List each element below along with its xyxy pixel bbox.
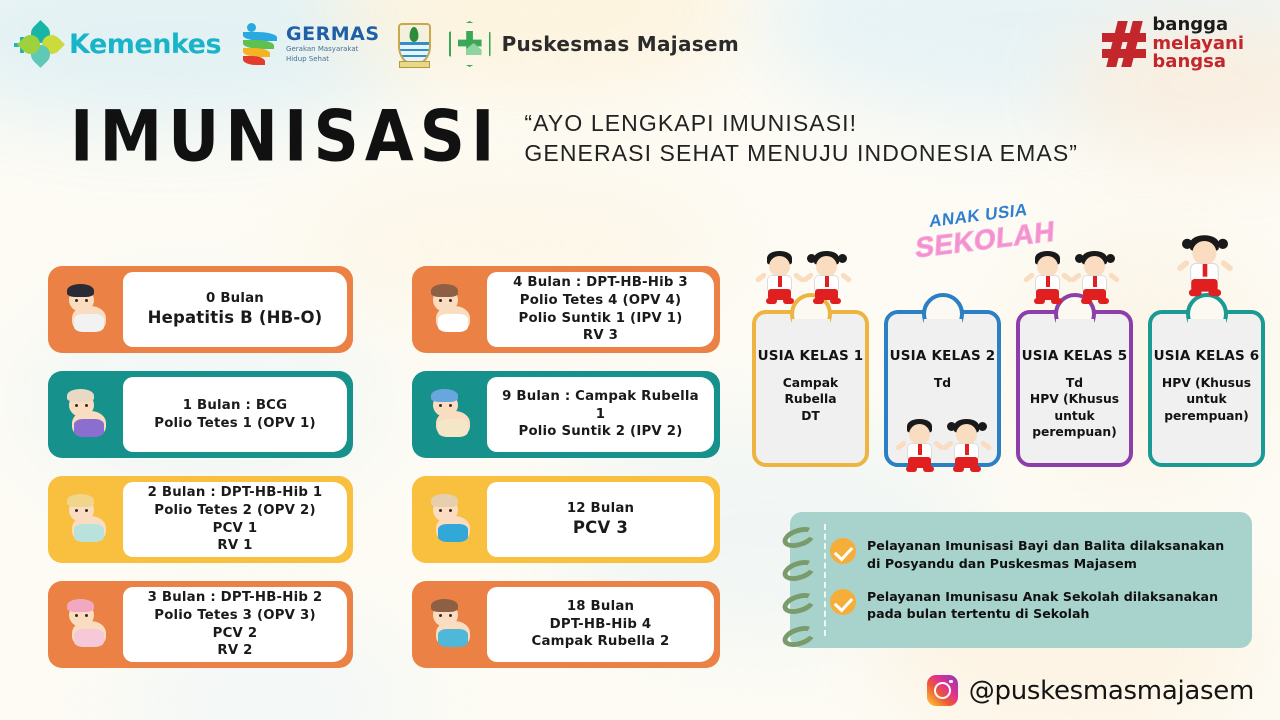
tagline: “AYO LENGKAPI IMUNISASI! GENERASI SEHAT …: [524, 108, 1078, 169]
schedule-line: 0 Bulan: [148, 290, 323, 308]
schedule-card: 2 Bulan : DPT-HB-Hib 1Polio Tetes 2 (OPV…: [48, 476, 353, 563]
schedule-card: 12 BulanPCV 3: [412, 476, 720, 563]
crawling-baby-icon: [59, 387, 115, 443]
notes-panel: Pelayanan Imunisasi Bayi dan Balita dila…: [790, 512, 1252, 648]
school-card-line: Campak: [783, 375, 838, 391]
card-notch: [790, 293, 832, 335]
school-card-line: HPV (Khusus: [1162, 375, 1251, 391]
schedule-line: 3 Bulan : DPT-HB-Hib 2: [148, 589, 323, 607]
puskesmas-name: Puskesmas Majasem: [502, 32, 739, 56]
page-title: IMUNISASI: [70, 101, 500, 172]
bangga-melayani-bangsa-logo: bangga melayani bangsa: [1102, 16, 1260, 72]
schedule-card-body: 0 BulanHepatitis B (HB-O): [123, 272, 347, 347]
school-card-body: Td: [934, 375, 951, 391]
baby-with-cap-icon: [423, 387, 479, 443]
card-notch: [1186, 293, 1228, 335]
schedule-line: Polio Tetes 3 (OPV 3): [148, 607, 323, 625]
schedule-card-illustration: [420, 589, 482, 660]
school-card-body: HPV (Khususuntukperempuan): [1162, 375, 1251, 424]
toddler-running-icon: [423, 597, 479, 653]
schedule-line: Polio Suntik 2 (IPV 2): [495, 423, 706, 441]
school-card-title: USIA KELAS 2: [890, 348, 996, 364]
school-card: USIA KELAS 1CampakRubellaDT: [752, 310, 869, 467]
schedule-line: Hepatitis B (HB-O): [148, 307, 323, 329]
schedule-card-body: 4 Bulan : DPT-HB-Hib 3Polio Tetes 4 (OPV…: [487, 272, 714, 347]
school-card: USIA KELAS 5TdHPV (Khususuntukperempuan): [1016, 310, 1133, 467]
germas-icon: [239, 22, 281, 66]
schedule-card-illustration: [56, 484, 118, 555]
schedule-card-illustration: [56, 589, 118, 660]
schedule-line: Polio Suntik 1 (IPV 1): [513, 310, 688, 328]
card-notch: [1054, 293, 1096, 335]
schedule-card-body: 18 BulanDPT-HB-Hib 4Campak Rubella 2: [487, 587, 714, 662]
school-card-line: Td: [934, 375, 951, 391]
schedule-line: Polio Tetes 4 (OPV 4): [513, 292, 688, 310]
schedule-line: RV 3: [513, 327, 688, 345]
bangga-line-1: bangga: [1152, 16, 1244, 35]
schedule-line: 2 Bulan : DPT-HB-Hib 1: [148, 484, 323, 502]
bandung-city-emblem-icon: [398, 23, 431, 65]
hashtag-icon: [1102, 21, 1146, 67]
note-margin-line: [824, 524, 826, 636]
schedule-line: Campak Rubella 2: [532, 633, 670, 651]
standing-baby-icon: [423, 492, 479, 548]
schedule-line: 12 Bulan: [567, 500, 634, 518]
health-cross-hexagon-icon: [449, 21, 491, 67]
schedule-line: 1 Bulan : BCG: [154, 397, 315, 415]
schedule-card-body: 3 Bulan : DPT-HB-Hib 2Polio Tetes 3 (OPV…: [123, 587, 347, 662]
instagram-icon[interactable]: [927, 675, 958, 706]
schedule-line: Polio Tetes 1 (OPV 1): [154, 415, 315, 433]
check-icon: [830, 589, 856, 615]
baby-on-cloud-icon: [59, 492, 115, 548]
schedule-card-text: 3 Bulan : DPT-HB-Hib 2Polio Tetes 3 (OPV…: [140, 589, 331, 660]
spiral-binding-icon: [782, 528, 816, 646]
schedule-card-text: 18 BulanDPT-HB-Hib 4Campak Rubella 2: [524, 598, 678, 651]
germas-subtitle-2: Hidup Sehat: [286, 55, 380, 64]
schedule-column-left: 0 BulanHepatitis B (HB-O)1 Bulan : BCGPo…: [48, 266, 353, 686]
school-card-line: DT: [783, 408, 838, 424]
school-card-line: Rubella: [783, 391, 838, 407]
schedule-card: 1 Bulan : BCGPolio Tetes 1 (OPV 1): [48, 371, 353, 458]
schedule-line: PCV 3: [567, 517, 634, 539]
check-icon: [830, 538, 856, 564]
kemenkes-icon: [20, 23, 62, 65]
school-card-line: Td: [1030, 375, 1119, 391]
tagline-line-1: “AYO LENGKAPI IMUNISASI!: [524, 108, 1078, 138]
schedule-card-illustration: [420, 484, 482, 555]
note-text: Pelayanan Imunisasu Anak Sekolah dilaksa…: [867, 588, 1238, 624]
school-cards-row: USIA KELAS 1CampakRubellaDTUSIA KELAS 2T…: [752, 310, 1265, 467]
school-card-title: USIA KELAS 1: [758, 348, 864, 364]
schedule-column-middle: 4 Bulan : DPT-HB-Hib 3Polio Tetes 4 (OPV…: [412, 266, 720, 686]
schedule-line: RV 2: [148, 642, 323, 660]
school-card-title: USIA KELAS 6: [1154, 348, 1260, 364]
schedule-card: 18 BulanDPT-HB-Hib 4Campak Rubella 2: [412, 581, 720, 668]
school-card-line: untuk: [1162, 391, 1251, 407]
schedule-card-text: 1 Bulan : BCGPolio Tetes 1 (OPV 1): [146, 397, 323, 432]
schedule-card: 0 BulanHepatitis B (HB-O): [48, 266, 353, 353]
school-card-body: TdHPV (Khususuntukperempuan): [1030, 375, 1119, 441]
school-age-heading: ANAK USIA SEKOLAH: [915, 206, 1090, 262]
schedule-line: 18 Bulan: [532, 598, 670, 616]
school-card-line: untuk: [1030, 408, 1119, 424]
schedule-card: 3 Bulan : DPT-HB-Hib 2Polio Tetes 3 (OPV…: [48, 581, 353, 668]
school-card-line: HPV (Khusus: [1030, 391, 1119, 407]
logo-group: Kemenkes GERMAS Gerakan Masyarakat Hidup…: [20, 21, 739, 67]
card-notch: [922, 293, 964, 335]
schedule-line: 4 Bulan : DPT-HB-Hib 3: [513, 274, 688, 292]
note-item: Pelayanan Imunisasu Anak Sekolah dilaksa…: [830, 588, 1238, 624]
bangga-line-3: bangsa: [1152, 53, 1244, 72]
schedule-card-illustration: [420, 274, 482, 345]
school-card-body: CampakRubellaDT: [783, 375, 838, 424]
newborn-baby-icon: [59, 282, 115, 338]
germas-name: GERMAS: [286, 25, 380, 44]
schedule-card-body: 1 Bulan : BCGPolio Tetes 1 (OPV 1): [123, 377, 347, 452]
note-text: Pelayanan Imunisasi Bayi dan Balita dila…: [867, 537, 1238, 573]
instagram-handle[interactable]: @puskesmasmajasem: [969, 676, 1254, 706]
schedule-card: 4 Bulan : DPT-HB-Hib 3Polio Tetes 4 (OPV…: [412, 266, 720, 353]
school-card-title: USIA KELAS 5: [1022, 348, 1128, 364]
schedule-line: 9 Bulan : Campak Rubella 1: [495, 388, 706, 423]
schedule-card-text: 0 BulanHepatitis B (HB-O): [140, 290, 331, 330]
schedule-card: 9 Bulan : Campak Rubella 1Polio Suntik 2…: [412, 371, 720, 458]
schedule-card-illustration: [56, 274, 118, 345]
schedule-line: RV 1: [148, 537, 323, 555]
title-block: IMUNISASI “AYO LENGKAPI IMUNISASI! GENER…: [70, 104, 1078, 169]
puskesmas-logo: Puskesmas Majasem: [449, 21, 739, 67]
schedule-card-text: 12 BulanPCV 3: [559, 500, 642, 540]
emblem-ribbon: [399, 61, 430, 68]
schedule-card-illustration: [56, 379, 118, 450]
schedule-card-text: 2 Bulan : DPT-HB-Hib 1Polio Tetes 2 (OPV…: [140, 484, 331, 555]
germas-logo: GERMAS Gerakan Masyarakat Hidup Sehat: [239, 22, 380, 66]
baby-girl-bow-icon: [59, 597, 115, 653]
header-bar: Kemenkes GERMAS Gerakan Masyarakat Hidup…: [0, 0, 1280, 88]
schedule-line: PCV 1: [148, 520, 323, 538]
schedule-card-text: 9 Bulan : Campak Rubella 1Polio Suntik 2…: [487, 388, 714, 441]
waving-baby-icon: [423, 282, 479, 338]
footer-social[interactable]: @puskesmasmajasem: [927, 675, 1254, 706]
kemenkes-logo: Kemenkes: [20, 23, 221, 65]
kemenkes-wordmark: Kemenkes: [69, 29, 221, 60]
schedule-line: Polio Tetes 2 (OPV 2): [148, 502, 323, 520]
tagline-line-2: GENERASI SEHAT MENUJU INDONESIA EMAS”: [524, 138, 1078, 168]
school-card: USIA KELAS 6HPV (Khususuntukperempuan): [1148, 310, 1265, 467]
note-item: Pelayanan Imunisasi Bayi dan Balita dila…: [830, 537, 1238, 573]
schedule-card-body: 2 Bulan : DPT-HB-Hib 1Polio Tetes 2 (OPV…: [123, 482, 347, 557]
school-card: USIA KELAS 2Td: [884, 310, 1001, 467]
germas-subtitle-1: Gerakan Masyarakat: [286, 45, 380, 54]
schedule-card-illustration: [420, 379, 482, 450]
schedule-line: PCV 2: [148, 625, 323, 643]
schedule-card-text: 4 Bulan : DPT-HB-Hib 3Polio Tetes 4 (OPV…: [505, 274, 696, 345]
schedule-line: DPT-HB-Hib 4: [532, 616, 670, 634]
schedule-card-body: 9 Bulan : Campak Rubella 1Polio Suntik 2…: [487, 377, 714, 452]
schedule-card-body: 12 BulanPCV 3: [487, 482, 714, 557]
school-card-line: perempuan): [1162, 408, 1251, 424]
school-card-line: perempuan): [1030, 424, 1119, 440]
